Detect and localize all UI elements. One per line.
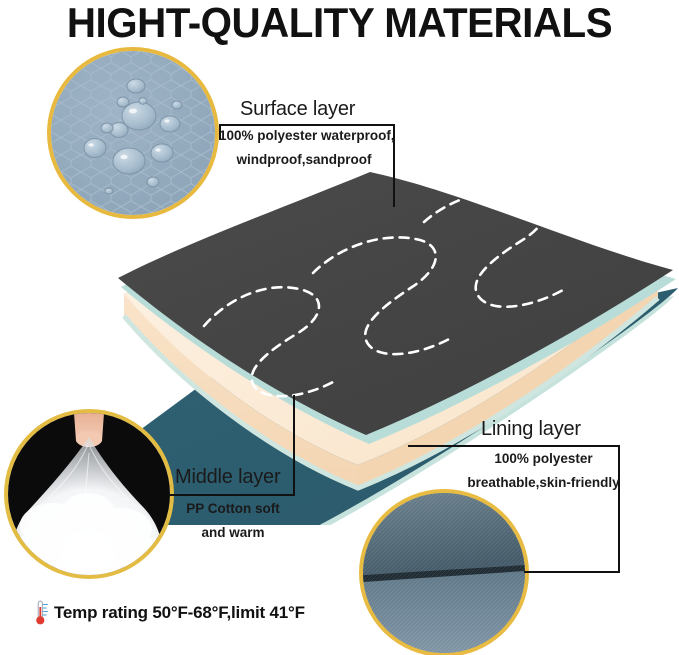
middle-callout-rule	[168, 494, 295, 496]
lining-layer-photo	[359, 489, 529, 655]
infographic-page: HIGHT-QUALITY MATERIALS	[0, 0, 679, 655]
lining-layer-description-line2: breathable,skin-friendly	[466, 471, 621, 495]
lining-callout-bottom-rule	[524, 571, 620, 573]
temp-rating-text: Temp rating 50°F-68°F,limit 41°F	[54, 603, 305, 623]
surface-layer-description-line1: 100% polyester waterproof,	[219, 124, 389, 148]
thermometer-icon	[32, 600, 50, 626]
water-droplets-icon	[51, 51, 215, 215]
cotton-fiber-icon	[8, 413, 170, 575]
temp-rating-row: Temp rating 50°F-68°F,limit 41°F	[32, 600, 305, 626]
surface-layer-photo	[47, 47, 219, 219]
surface-layer-heading: Surface layer	[240, 98, 355, 121]
page-title: HIGHT-QUALITY MATERIALS	[14, 0, 666, 46]
middle-layer-description-line1: PP Cotton soft	[168, 497, 298, 521]
lining-layer-description: 100% polyester breathable,skin-friendly	[466, 447, 621, 495]
lining-fabric-icon	[363, 493, 525, 653]
surface-layer-description: 100% polyester waterproof, windproof,san…	[219, 124, 389, 172]
middle-callout-leader-line	[293, 395, 295, 495]
middle-layer-photo	[4, 409, 174, 579]
middle-layer-description: PP Cotton soft and warm	[168, 497, 298, 545]
middle-layer-heading: Middle layer	[175, 466, 280, 489]
lining-layer-description-line1: 100% polyester	[466, 447, 621, 471]
surface-layer-description-line2: windproof,sandproof	[219, 148, 389, 172]
middle-layer-description-line2: and warm	[168, 521, 298, 545]
lining-layer-heading: Lining layer	[481, 418, 581, 441]
